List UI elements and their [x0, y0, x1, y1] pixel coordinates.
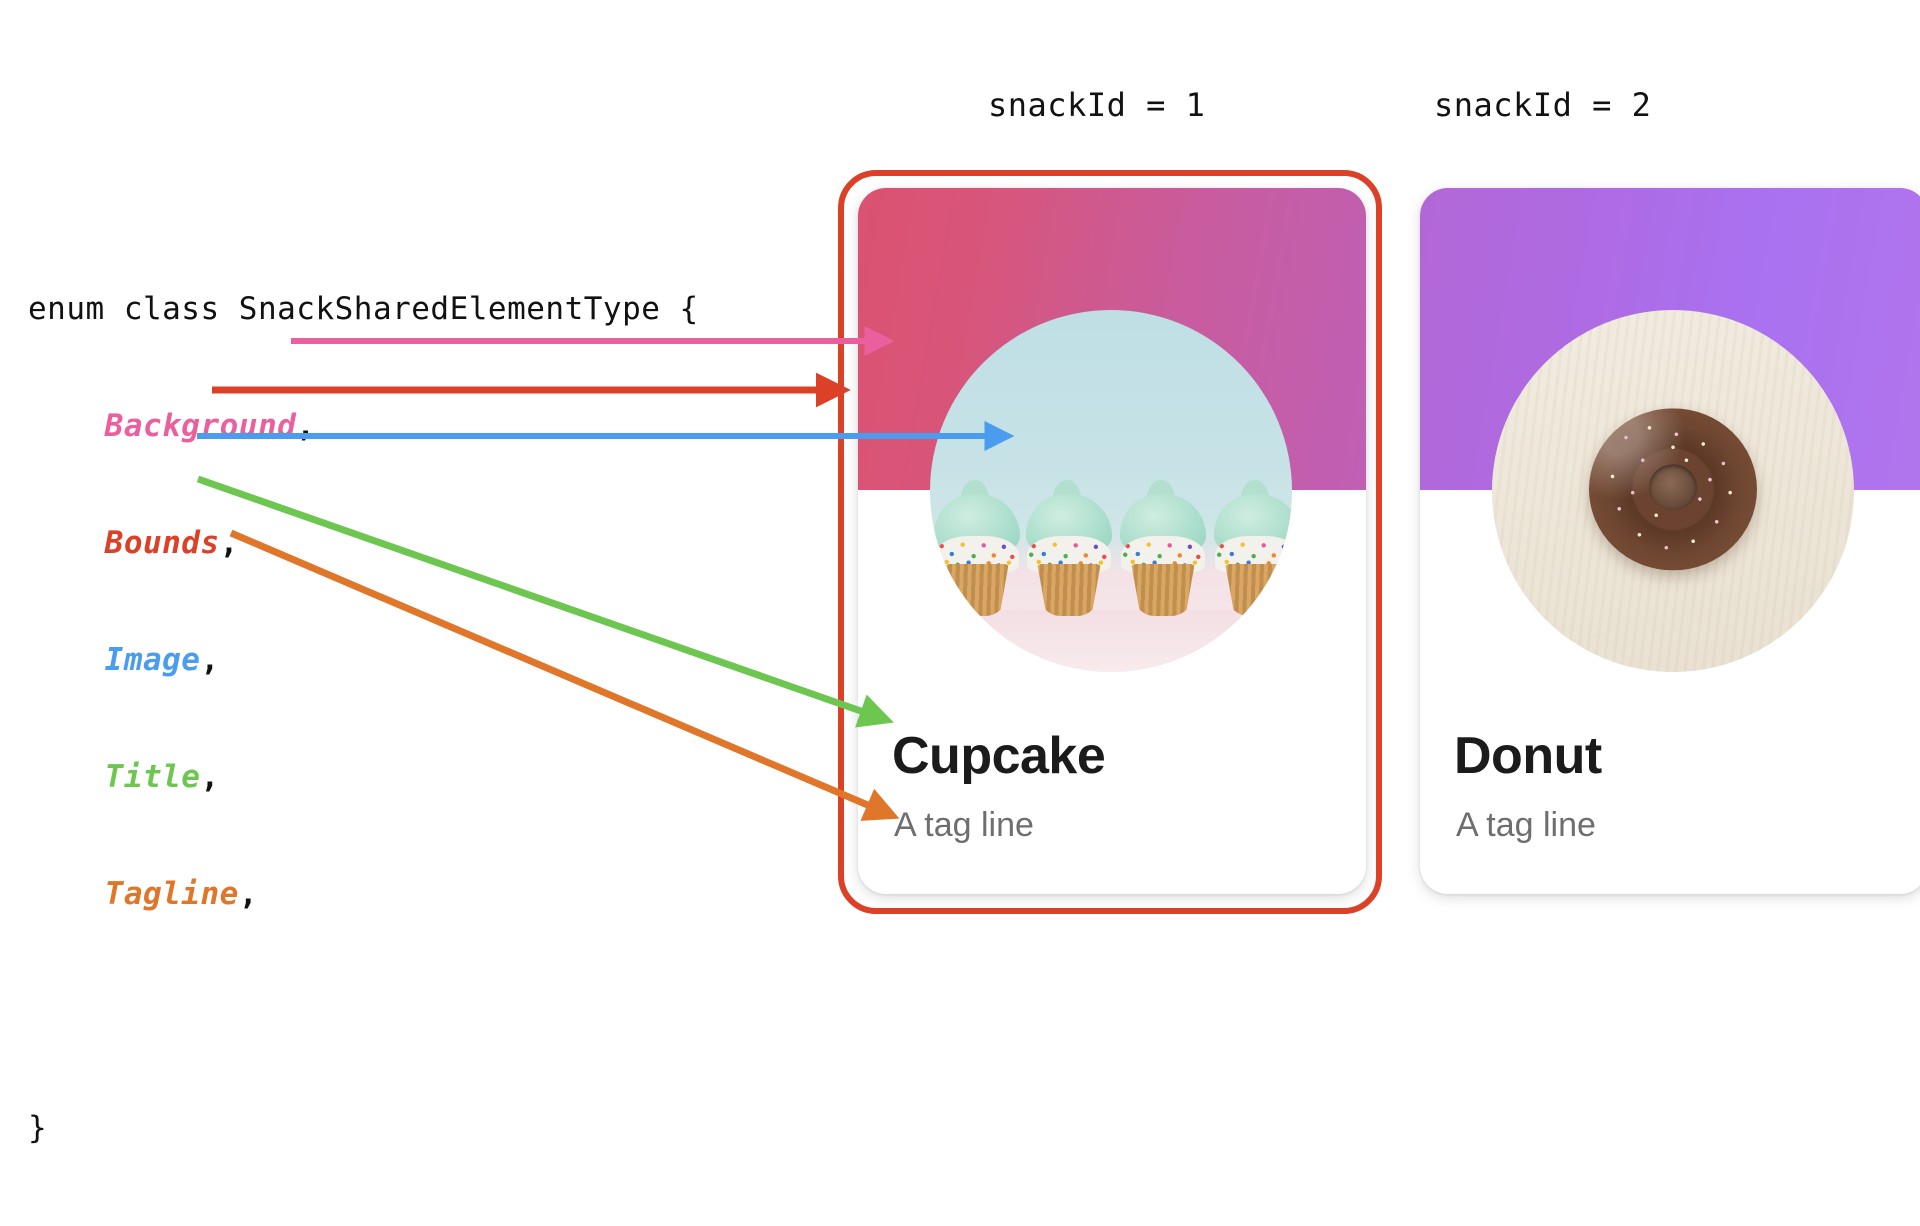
card-image-cupcakes	[930, 310, 1292, 672]
cupcake-liner	[1130, 564, 1196, 616]
code-text-closing-brace: }	[28, 1110, 47, 1146]
snack-id-label-2: snackId = 2	[1434, 86, 1651, 124]
enum-member-background: Background	[105, 408, 297, 444]
comma-background: ,	[296, 408, 315, 444]
cupcake-2	[1026, 494, 1112, 614]
code-line-bounds: Bounds,	[28, 524, 699, 563]
donut-photo	[1492, 310, 1854, 672]
snack-id-label-1: snackId = 1	[988, 86, 1205, 124]
cupcake-liner	[1224, 564, 1290, 616]
donut-shape	[1589, 408, 1757, 570]
card-title: Cupcake	[892, 726, 1105, 786]
enum-member-image: Image	[105, 642, 201, 678]
code-line-tagline: Tagline,	[28, 875, 699, 914]
code-line-blank	[28, 992, 699, 1031]
cupcake-liner	[1036, 564, 1102, 616]
comma-title: ,	[200, 759, 219, 795]
comma-tagline: ,	[239, 876, 258, 912]
code-snippet: enum class SnackSharedElementType { Back…	[28, 212, 699, 1226]
code-line-declaration: enum class SnackSharedElementType {	[28, 290, 699, 329]
comma-bounds: ,	[220, 525, 239, 561]
enum-member-tagline: Tagline	[105, 876, 239, 912]
code-line-background: Background,	[28, 407, 699, 446]
card-tagline: A tag line	[894, 806, 1034, 845]
diagram-canvas: enum class SnackSharedElementType { Back…	[0, 0, 1920, 1080]
code-text-declaration: enum class SnackSharedElementType {	[28, 291, 699, 327]
comma-image: ,	[200, 642, 219, 678]
card-title: Donut	[1454, 726, 1602, 786]
snack-card-cupcake[interactable]: Cupcake A tag line	[858, 188, 1366, 894]
code-line-closing-brace: }	[28, 1109, 699, 1148]
cupcake-4	[1214, 494, 1292, 614]
cupcake-1	[934, 494, 1020, 614]
card-image-donut	[1492, 310, 1854, 672]
code-line-title: Title,	[28, 758, 699, 797]
code-line-image: Image,	[28, 641, 699, 680]
cupcakes-photo	[930, 310, 1292, 672]
cupcake-liner	[944, 564, 1010, 616]
enum-member-title: Title	[105, 759, 201, 795]
cupcake-3	[1120, 494, 1206, 614]
table-surface	[930, 610, 1292, 672]
snack-card-donut[interactable]: Donut A tag line	[1420, 188, 1920, 894]
donut-hole	[1649, 465, 1697, 511]
card-tagline: A tag line	[1456, 806, 1596, 845]
enum-member-bounds: Bounds	[105, 525, 220, 561]
